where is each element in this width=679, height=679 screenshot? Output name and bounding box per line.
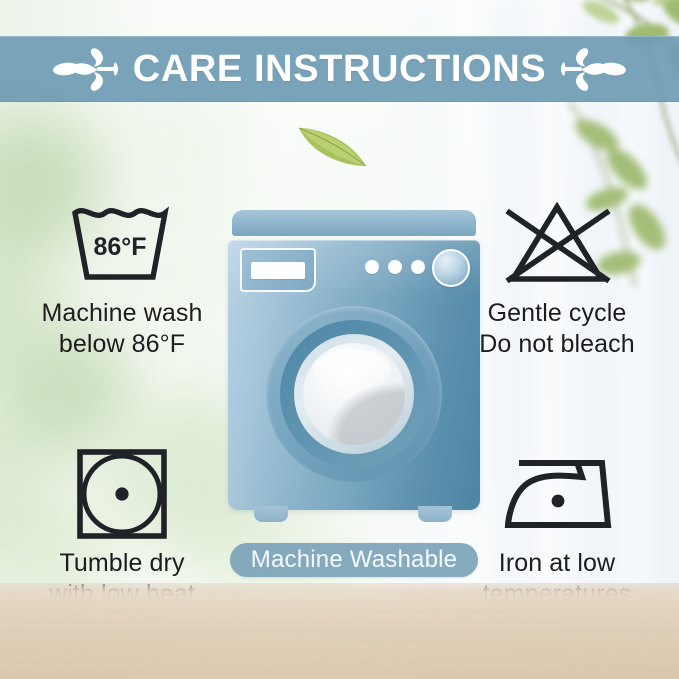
washer-indicator-dots [365, 260, 425, 274]
washer-foot-left [254, 506, 288, 522]
wooden-tabletop-grain [0, 583, 679, 679]
triangle-crossed-out-icon [497, 199, 617, 289]
washer-indicator-dot [411, 260, 425, 274]
iron-icon-box [497, 446, 617, 542]
washer-program-knob [432, 249, 470, 287]
care-label-line1: Iron at low [499, 549, 615, 577]
tumble-dry-icon-box [62, 446, 182, 542]
tumble-dry-one-dot-icon [74, 446, 170, 542]
care-item-machine-wash: 86°F Machine wash below 86°F [12, 196, 232, 359]
care-instructions-graphic: CARE INSTRUCTIONS 86°F Machine wash [0, 0, 679, 679]
front-load-washing-machine-icon [228, 210, 480, 540]
washer-detergent-drawer [240, 248, 316, 292]
washer-indicator-dot [388, 260, 402, 274]
status-badge-label: Machine Washable [251, 548, 457, 572]
washer-door-inner-ring [294, 334, 414, 454]
washer-door-mid-ring [280, 320, 428, 468]
care-item-do-not-bleach: Gentle cycle Do not bleach [447, 196, 667, 359]
washer-door-glass [303, 343, 405, 445]
care-label-line2: below 86°F [41, 329, 202, 360]
leaf-icon [296, 122, 370, 174]
page-title: CARE INSTRUCTIONS [133, 50, 546, 88]
washer-door-outer-ring [266, 306, 442, 482]
banner: CARE INSTRUCTIONS [0, 36, 679, 102]
care-item-label: Machine wash below 86°F [41, 298, 202, 359]
care-label-line1: Tumble dry [59, 549, 184, 577]
care-label-line1: Machine wash [41, 299, 202, 327]
washer-door-glass-highlight [313, 349, 391, 389]
triangle-crossed-out-icon-box [497, 196, 617, 292]
washer-body [228, 240, 480, 510]
care-label-line2: Do not bleach [479, 329, 635, 360]
wash-tub-icon-box: 86°F [62, 196, 182, 292]
washer-drawer-slot [251, 262, 305, 279]
iron-one-dot-icon [498, 451, 616, 537]
care-label-line1: Gentle cycle [488, 299, 627, 327]
wash-tub-icon: 86°F [67, 201, 177, 287]
washer-top-lid [232, 210, 476, 236]
washer-foot-right [418, 506, 452, 522]
care-item-label: Gentle cycle Do not bleach [479, 298, 635, 359]
washer-indicator-dot [365, 260, 379, 274]
fleur-de-lis-ornament-right-icon [560, 46, 626, 92]
status-badge: Machine Washable [230, 543, 478, 577]
wash-tub-temperature-text: 86°F [93, 233, 146, 261]
fleur-de-lis-ornament-left-icon [53, 46, 119, 92]
